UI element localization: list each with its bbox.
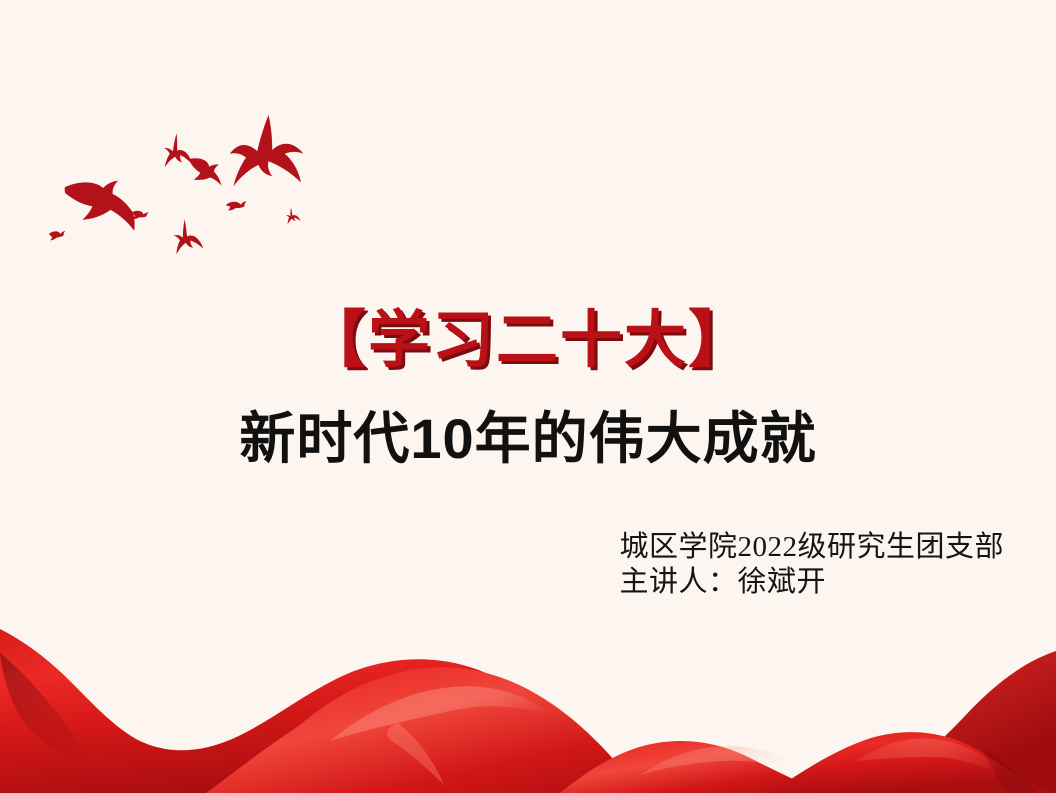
bird-flock-decoration	[38, 92, 328, 277]
page-subtitle: 新时代10年的伟大成就	[0, 404, 1056, 474]
bird-icon	[183, 154, 228, 190]
bird-icon	[230, 115, 304, 186]
byline: 城区学院2022级研究生团支部 主讲人：徐斌开	[619, 530, 1004, 600]
bird-icon	[172, 218, 203, 255]
bird-icon	[60, 174, 141, 231]
bird-icon	[49, 231, 65, 241]
bird-icon	[164, 133, 192, 167]
byline-organization: 城区学院2022级研究生团支部	[619, 530, 1004, 565]
page-title: 【学习二十大】	[0, 300, 1056, 382]
bird-icon	[131, 209, 149, 221]
red-silk-ribbon-decoration	[0, 593, 1056, 793]
presentation-slide: 【学习二十大】 新时代10年的伟大成就 城区学院2022级研究生团支部 主讲人：…	[0, 0, 1056, 793]
bird-icon	[226, 201, 246, 210]
bird-icon	[285, 206, 301, 224]
title-block: 【学习二十大】 新时代10年的伟大成就	[0, 300, 1056, 474]
byline-presenter: 主讲人：徐斌开	[619, 565, 1004, 600]
